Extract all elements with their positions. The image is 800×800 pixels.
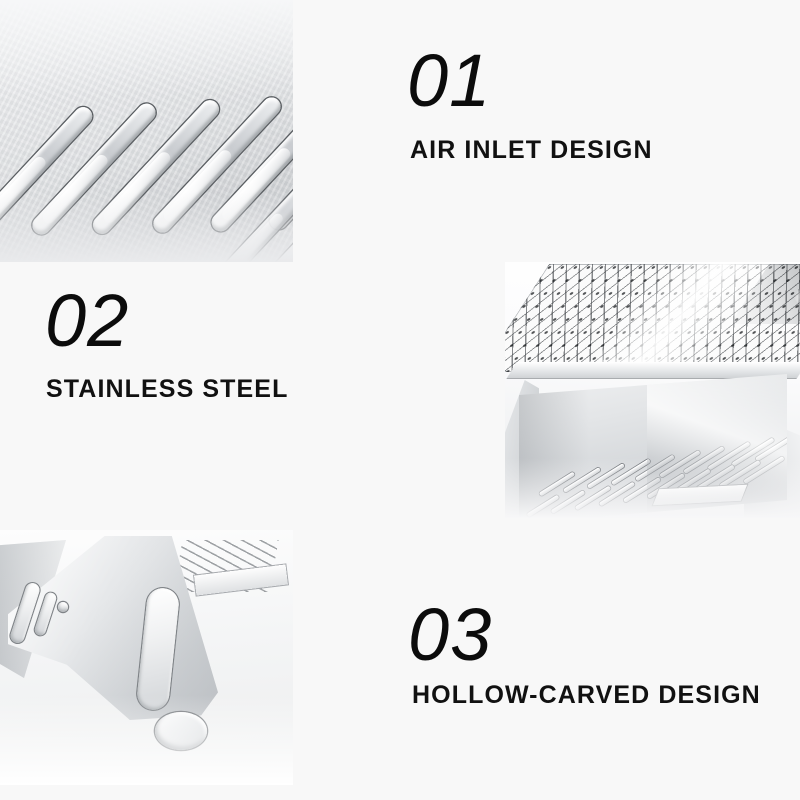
feature-number-01: 01 [407, 44, 491, 118]
photo-floor-falloff [505, 458, 800, 518]
feature-caption-03: HOLLOW-CARVED DESIGN [412, 683, 761, 708]
bottom-shadow-falloff [0, 192, 293, 262]
feature-number-03: 03 [408, 598, 492, 672]
photo-floor-falloff [0, 695, 293, 785]
feature-caption-01: AIR INLET DESIGN [410, 138, 653, 163]
stainless-steel-grill-photo [505, 262, 800, 518]
top-light-falloff [0, 0, 293, 96]
feature-number-02: 02 [45, 284, 129, 358]
feature-caption-02: STAINLESS STEEL [46, 377, 288, 402]
product-feature-infographic: 01 AIR INLET DESIGN 02 STAINLESS STEEL [0, 0, 800, 800]
wire-mesh-grate [505, 264, 800, 372]
grate-front-rail [507, 362, 800, 378]
hollow-carved-leg-photo [0, 530, 293, 785]
air-inlet-slot-closeup-photo [0, 0, 293, 262]
leg-pin-hole [58, 602, 68, 612]
